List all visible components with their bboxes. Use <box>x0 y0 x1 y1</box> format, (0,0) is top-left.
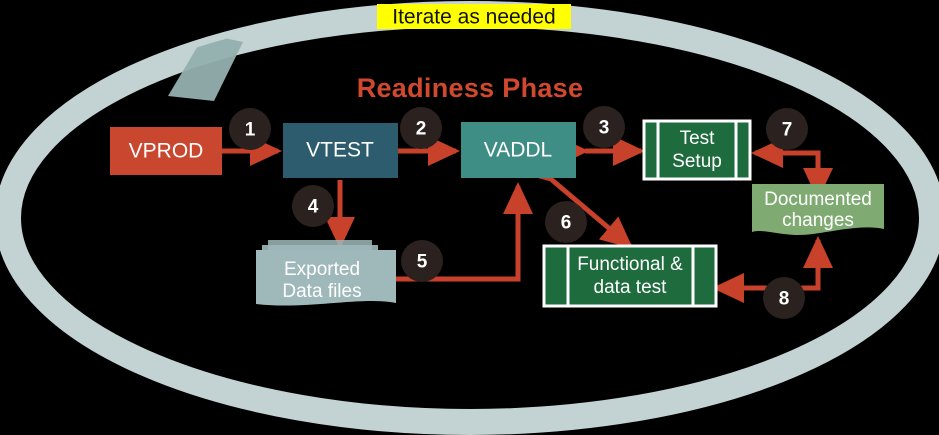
iterate-banner-label: Iterate as needed <box>392 6 555 29</box>
iterate-banner: Iterate as needed <box>377 4 571 29</box>
node-documented-changes-label-line1: Documented <box>764 189 872 210</box>
node-vaddl-label: VADDL <box>484 139 552 162</box>
page-title: Readiness Phase <box>357 73 584 103</box>
step-badge-6-label: 6 <box>561 213 572 234</box>
step-badge-1: 1 <box>229 108 271 150</box>
step-badge-5: 5 <box>401 240 443 282</box>
node-vtest-label: VTEST <box>306 139 374 162</box>
node-test-setup[interactable]: Test Setup <box>644 121 750 179</box>
node-vprod-label: VPROD <box>129 140 204 163</box>
node-vtest[interactable]: VTEST <box>283 123 398 178</box>
node-vprod[interactable]: VPROD <box>110 127 222 175</box>
step-badge-4-label: 4 <box>308 197 319 218</box>
node-functional-data-test-label-line1: Functional & <box>577 254 683 275</box>
node-functional-data-test[interactable]: Functional & data test <box>544 246 716 306</box>
step-badge-2-label: 2 <box>416 119 427 140</box>
step-badge-7-label: 7 <box>782 120 793 141</box>
diagram-canvas: Iterate as needed Readiness Phase <box>0 0 939 435</box>
step-badge-3-label: 3 <box>599 118 610 139</box>
node-exported-data-files-label-line1: Exported <box>284 259 360 280</box>
readiness-phase-flow-diagram: Iterate as needed Readiness Phase <box>0 0 939 435</box>
step-badge-4: 4 <box>292 185 334 227</box>
connector-8-functional-documented <box>716 242 818 288</box>
node-documented-changes[interactable]: Documented changes <box>752 184 884 235</box>
step-badge-1-label: 1 <box>245 120 256 141</box>
step-badge-8: 8 <box>763 277 805 319</box>
node-test-setup-label-line2: Setup <box>672 151 722 172</box>
node-functional-data-test-label-line2: data test <box>594 277 668 298</box>
node-documented-changes-label-line2: changes <box>782 210 854 231</box>
step-badge-8-label: 8 <box>779 289 790 310</box>
step-badge-5-label: 5 <box>417 252 428 273</box>
step-badge-2: 2 <box>400 107 442 149</box>
step-badge-7: 7 <box>766 108 808 150</box>
node-vaddl[interactable]: VADDL <box>461 122 576 178</box>
node-exported-data-files-label-line2: Data files <box>282 281 361 302</box>
node-test-setup-label-line1: Test <box>680 128 716 149</box>
connector-5-exported-to-vaddl <box>375 186 518 279</box>
step-badge-6: 6 <box>545 201 587 243</box>
step-badge-3: 3 <box>583 106 625 148</box>
node-exported-data-files[interactable]: Exported Data files <box>256 240 396 306</box>
